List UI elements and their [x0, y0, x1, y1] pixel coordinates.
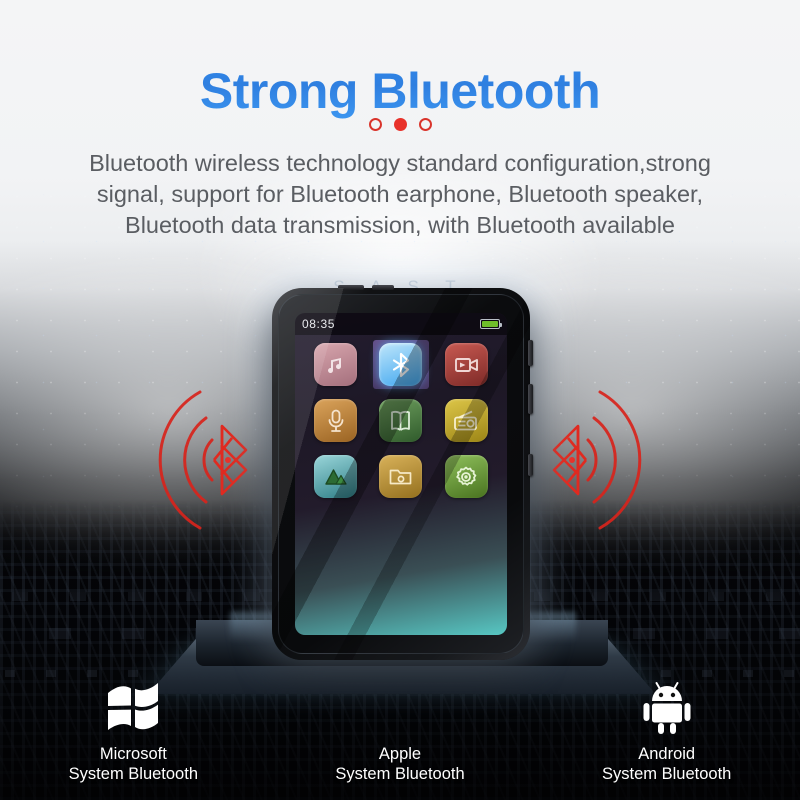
bluetooth-emblem-right [544, 370, 704, 550]
microphone-icon [314, 399, 357, 442]
device-volume-down-button[interactable] [528, 384, 533, 414]
app-cell-bluetooth[interactable] [373, 340, 429, 389]
app-grid [303, 343, 499, 498]
dot-3 [419, 118, 432, 131]
video-camera-icon [445, 343, 488, 386]
dot-1 [369, 118, 382, 131]
android-icon [639, 676, 695, 738]
app-cell-settings[interactable] [438, 455, 494, 498]
radio-icon [445, 399, 488, 442]
device-volume-up-button[interactable] [528, 340, 533, 366]
app-cell-gallery[interactable] [308, 455, 364, 498]
battery-icon [480, 319, 500, 329]
device-top-button-1[interactable] [338, 285, 364, 290]
platform-sub: System Bluetooth [69, 764, 198, 784]
status-clock: 08:35 [302, 317, 335, 331]
bluetooth-emblem-left [96, 370, 256, 550]
platform-android: Android System Bluetooth [533, 676, 800, 784]
product-banner: Strong Bluetooth Bluetooth wireless tech… [0, 0, 800, 800]
device-bezel: 08:35 [278, 294, 524, 654]
platform-sub: System Bluetooth [335, 764, 464, 784]
music-note-icon [314, 343, 357, 386]
folder-icon [379, 455, 422, 498]
platform-sub: System Bluetooth [602, 764, 731, 784]
device-screen[interactable]: 08:35 [295, 313, 507, 635]
photo-mountain-icon [314, 455, 357, 498]
description-text: Bluetooth wireless technology standard c… [58, 148, 742, 241]
device-top-button-2[interactable] [372, 285, 394, 290]
platform-name: Android [602, 744, 731, 764]
platform-label-apple: Apple System Bluetooth [335, 744, 464, 784]
app-cell-music[interactable] [308, 343, 364, 386]
bluetooth-center-dot [225, 457, 231, 463]
platform-label-android: Android System Bluetooth [602, 744, 731, 784]
app-cell-video[interactable] [438, 343, 494, 386]
bluetooth-icon [379, 343, 422, 386]
windows-icon [104, 676, 162, 738]
dot-separator [0, 118, 800, 131]
platform-name: Microsoft [69, 744, 198, 764]
platform-microsoft: Microsoft System Bluetooth [0, 676, 267, 784]
book-icon [379, 399, 422, 442]
mp3-player-device: 08:35 [272, 288, 530, 660]
app-cell-radio[interactable] [438, 399, 494, 442]
gear-icon [445, 455, 488, 498]
platform-label-microsoft: Microsoft System Bluetooth [69, 744, 198, 784]
device-power-button[interactable] [528, 454, 533, 476]
platform-apple: Apple System Bluetooth [267, 676, 534, 784]
status-bar: 08:35 [295, 313, 507, 335]
app-cell-recorder[interactable] [308, 399, 364, 442]
page-title: Strong Bluetooth [0, 62, 800, 120]
bluetooth-center-dot [569, 457, 575, 463]
platform-compatibility-row: Microsoft System Bluetooth Apple System … [0, 664, 800, 784]
dot-2 [394, 118, 407, 131]
app-cell-folder[interactable] [373, 455, 429, 498]
platform-name: Apple [335, 744, 464, 764]
app-cell-ebook[interactable] [373, 399, 429, 442]
